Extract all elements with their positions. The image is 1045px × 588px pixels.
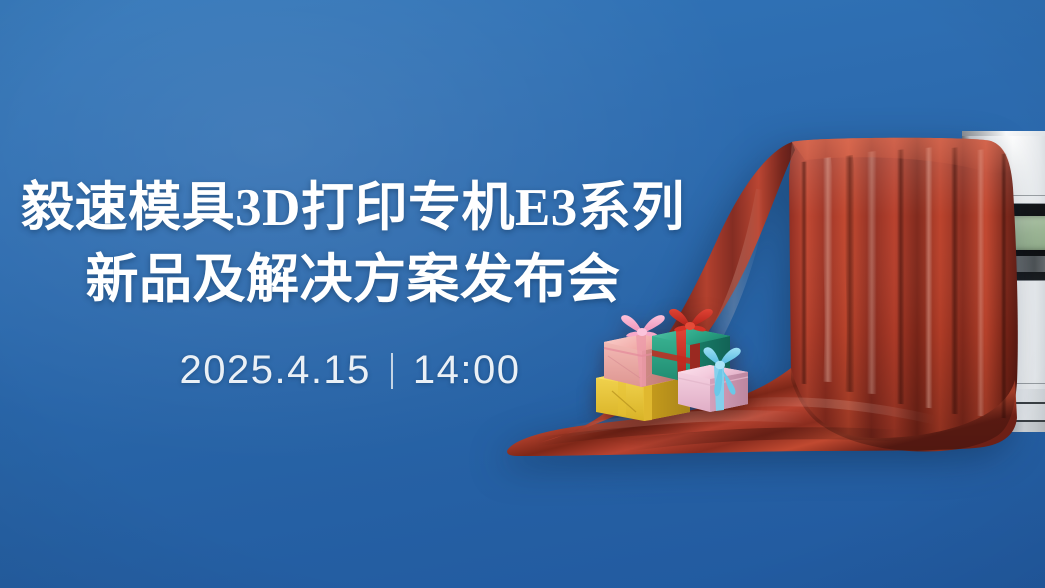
- gift-bow-pink: [621, 315, 665, 337]
- event-datetime: 2025.4.15 14:00: [0, 348, 700, 393]
- datetime-separator: [391, 353, 393, 389]
- red-silk-drape: [505, 136, 1025, 458]
- event-time: 14:00: [413, 348, 521, 393]
- event-poster: 毅速模具3D打印专机E3系列 新品及解决方案发布会 2025.4.15 14:0…: [0, 0, 1045, 588]
- event-date: 2025.4.15: [179, 348, 370, 393]
